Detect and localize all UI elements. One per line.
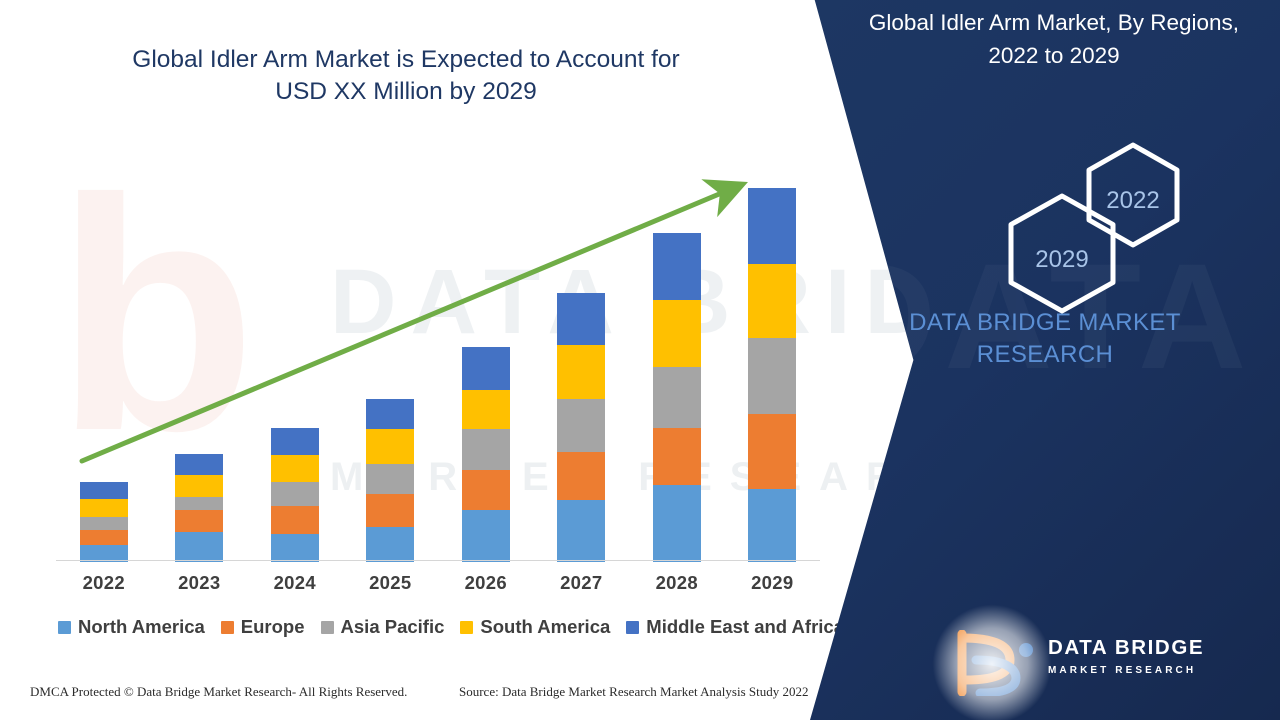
bar-segment[interactable]	[271, 482, 319, 506]
bar-2025[interactable]	[366, 399, 414, 562]
bar-segment[interactable]	[653, 485, 701, 562]
bar-segment[interactable]	[557, 452, 605, 500]
logo-subtitle: MARKET RESEARCH	[1048, 665, 1204, 676]
logo-title: DATA BRIDGE	[1048, 636, 1204, 660]
bar-2023[interactable]	[175, 454, 223, 562]
logo-wordmark: DATA BRIDGE MARKET RESEARCH	[1048, 636, 1204, 676]
x-axis-label-2022: 2022	[56, 572, 152, 594]
bar-segment[interactable]	[462, 510, 510, 562]
bar-segment[interactable]	[653, 428, 701, 485]
bar-segment[interactable]	[80, 499, 128, 517]
x-axis-labels: 20222023202420252026202720282029	[56, 572, 820, 602]
bar-segment[interactable]	[748, 414, 796, 489]
legend-item-north-america[interactable]: North America	[58, 616, 205, 638]
bar-segment[interactable]	[175, 454, 223, 475]
bar-2027[interactable]	[557, 293, 605, 562]
stacked-bar-plot	[56, 170, 820, 562]
x-axis-label-2023: 2023	[151, 572, 247, 594]
bar-segment[interactable]	[366, 494, 414, 527]
legend-label: Asia Pacific	[341, 616, 445, 638]
bar-segment[interactable]	[557, 500, 605, 562]
bar-segment[interactable]	[80, 530, 128, 545]
bar-2024[interactable]	[271, 428, 319, 562]
legend-label: North America	[78, 616, 205, 638]
bar-segment[interactable]	[366, 527, 414, 562]
legend-label: Europe	[241, 616, 305, 638]
bar-segment[interactable]	[653, 300, 701, 367]
logo-glow	[932, 604, 1052, 720]
dmca-notice: DMCA Protected © Data Bridge Market Rese…	[30, 684, 407, 700]
source-note: Source: Data Bridge Market Research Mark…	[459, 684, 808, 700]
x-axis-label-2026: 2026	[438, 572, 534, 594]
x-axis-label-2024: 2024	[247, 572, 343, 594]
bar-segment[interactable]	[557, 293, 605, 345]
bar-2022[interactable]	[80, 482, 128, 562]
x-axis-label-2027: 2027	[533, 572, 629, 594]
bar-2026[interactable]	[462, 347, 510, 562]
x-axis-label-2029: 2029	[724, 572, 820, 594]
panel-title-line-2: 2022 to 2029	[828, 39, 1280, 72]
bar-2029[interactable]	[748, 188, 796, 562]
x-axis-label-2025: 2025	[342, 572, 438, 594]
legend-swatch-icon	[460, 621, 473, 634]
legend-swatch-icon	[321, 621, 334, 634]
bar-segment[interactable]	[80, 517, 128, 530]
chart-title-line-1: Global Idler Arm Market is Expected to A…	[0, 44, 812, 76]
bar-segment[interactable]	[557, 399, 605, 452]
chart-panel: Global Idler Arm Market is Expected to A…	[0, 0, 980, 720]
legend-item-europe[interactable]: Europe	[221, 616, 305, 638]
bar-segment[interactable]	[175, 497, 223, 510]
bar-segment[interactable]	[748, 338, 796, 414]
bar-segment[interactable]	[462, 390, 510, 429]
panel-title: Global Idler Arm Market, By Regions, 202…	[828, 6, 1280, 72]
bar-segment[interactable]	[271, 428, 319, 455]
chart-title-line-2: USD XX Million by 2029	[0, 76, 812, 108]
legend-item-asia-pacific[interactable]: Asia Pacific	[321, 616, 445, 638]
bar-segment[interactable]	[748, 264, 796, 338]
bar-segment[interactable]	[748, 489, 796, 562]
x-axis-line	[56, 560, 820, 561]
bar-segment[interactable]	[653, 233, 701, 300]
legend-item-south-america[interactable]: South America	[460, 616, 610, 638]
legend-label: Middle East and Africa	[646, 616, 844, 638]
bar-segment[interactable]	[175, 510, 223, 532]
bar-segment[interactable]	[462, 347, 510, 390]
legend-label: South America	[480, 616, 610, 638]
x-axis-label-2028: 2028	[629, 572, 725, 594]
bar-segment[interactable]	[271, 506, 319, 534]
bar-segment[interactable]	[653, 367, 701, 428]
bar-segment[interactable]	[175, 532, 223, 562]
chart-legend: North AmericaEuropeAsia PacificSouth Ame…	[56, 616, 846, 638]
bar-segment[interactable]	[366, 429, 414, 464]
legend-item-middle-east-and-africa[interactable]: Middle East and Africa	[626, 616, 844, 638]
panel-title-line-1: Global Idler Arm Market, By Regions,	[869, 10, 1239, 35]
bar-segment[interactable]	[80, 482, 128, 499]
chart-title: Global Idler Arm Market is Expected to A…	[0, 44, 812, 108]
bar-segment[interactable]	[271, 534, 319, 562]
company-logo: DATA BRIDGE MARKET RESEARCH	[950, 630, 1270, 696]
bar-segment[interactable]	[175, 475, 223, 497]
bar-segment[interactable]	[366, 399, 414, 429]
legend-swatch-icon	[221, 621, 234, 634]
bar-segment[interactable]	[748, 188, 796, 264]
hexagon-badge-2022: 2022	[1080, 140, 1186, 261]
legend-swatch-icon	[626, 621, 639, 634]
footer: DMCA Protected © Data Bridge Market Rese…	[0, 684, 860, 708]
bar-2028[interactable]	[653, 233, 701, 562]
bar-segment[interactable]	[366, 464, 414, 494]
infographic-root: b DATA BRIDGE MARKET RESEARCH Global Idl…	[0, 0, 1280, 720]
hexagon-badge-2022-label: 2022	[1080, 187, 1186, 215]
bar-segment[interactable]	[462, 429, 510, 470]
bar-segment[interactable]	[557, 345, 605, 399]
bar-segment[interactable]	[462, 470, 510, 510]
bar-segment[interactable]	[271, 455, 319, 482]
legend-swatch-icon	[58, 621, 71, 634]
